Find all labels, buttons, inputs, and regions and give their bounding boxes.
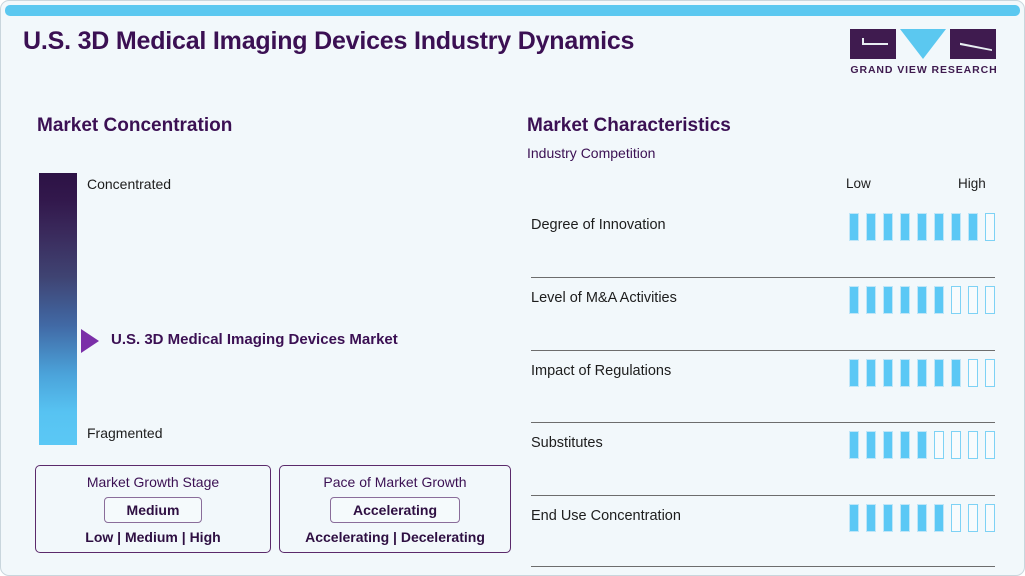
market-characteristics-title: Market Characteristics bbox=[527, 115, 731, 137]
growth-stage-scale: Low | Medium | High bbox=[85, 529, 220, 545]
market-position-label: U.S. 3D Medical Imaging Devices Market bbox=[111, 331, 398, 348]
pace-value: Accelerating bbox=[330, 497, 460, 523]
rating-tick-filled bbox=[900, 504, 910, 532]
rating-tick-empty bbox=[951, 286, 961, 314]
rating-tick-empty bbox=[985, 504, 995, 532]
rating-tick-filled bbox=[934, 213, 944, 241]
characteristic-label: Degree of Innovation bbox=[531, 217, 666, 233]
growth-stage-heading: Market Growth Stage bbox=[87, 474, 219, 490]
rating-tick-empty bbox=[951, 504, 961, 532]
characteristics-rows: Degree of InnovationLevel of M&A Activit… bbox=[531, 205, 995, 567]
rating-tick-empty bbox=[985, 213, 995, 241]
page-title: U.S. 3D Medical Imaging Devices Industry… bbox=[23, 27, 634, 56]
rating-tick-filled bbox=[951, 359, 961, 387]
rating-tick-filled bbox=[866, 286, 876, 314]
rating-tick-filled bbox=[900, 359, 910, 387]
characteristic-label: Impact of Regulations bbox=[531, 363, 671, 379]
scale-low-label: Low bbox=[846, 176, 871, 191]
logo-triangle-icon bbox=[900, 29, 946, 59]
characteristic-rating-bars bbox=[849, 213, 995, 241]
rating-tick-empty bbox=[968, 286, 978, 314]
rating-tick-filled bbox=[883, 431, 893, 459]
rating-tick-filled bbox=[968, 213, 978, 241]
rating-tick-filled bbox=[849, 431, 859, 459]
characteristic-label: End Use Concentration bbox=[531, 508, 681, 524]
rating-tick-filled bbox=[849, 213, 859, 241]
characteristic-rating-bars bbox=[849, 431, 995, 459]
rating-tick-filled bbox=[934, 504, 944, 532]
pace-scale: Accelerating | Decelerating bbox=[305, 529, 485, 545]
market-position-marker bbox=[81, 329, 99, 353]
rating-tick-empty bbox=[968, 504, 978, 532]
rating-tick-empty bbox=[985, 431, 995, 459]
rating-tick-filled bbox=[900, 431, 910, 459]
market-concentration-title: Market Concentration bbox=[37, 115, 232, 137]
rating-tick-empty bbox=[968, 431, 978, 459]
concentration-gradient-scale bbox=[39, 173, 77, 445]
rating-tick-filled bbox=[917, 359, 927, 387]
characteristic-rating-bars bbox=[849, 504, 995, 532]
characteristic-row: Degree of Innovation bbox=[531, 205, 995, 277]
rating-tick-filled bbox=[934, 359, 944, 387]
concentration-bottom-label: Fragmented bbox=[87, 425, 162, 441]
rating-tick-filled bbox=[883, 359, 893, 387]
scale-high-label: High bbox=[958, 176, 986, 191]
market-characteristics-subtitle: Industry Competition bbox=[527, 145, 655, 161]
characteristic-label: Substitutes bbox=[531, 435, 603, 451]
rating-tick-filled bbox=[866, 359, 876, 387]
pace-of-market-growth-card: Pace of Market Growth Accelerating Accel… bbox=[279, 465, 511, 553]
rating-tick-filled bbox=[883, 213, 893, 241]
characteristic-row: End Use Concentration bbox=[531, 495, 995, 567]
logo-wordmark: GRAND VIEW RESEARCH bbox=[850, 64, 998, 76]
pace-heading: Pace of Market Growth bbox=[323, 474, 466, 490]
characteristic-row: Level of M&A Activities bbox=[531, 277, 995, 349]
growth-stage-value: Medium bbox=[104, 497, 203, 523]
logo-marks bbox=[850, 29, 998, 59]
rating-tick-filled bbox=[917, 504, 927, 532]
brand-logo: GRAND VIEW RESEARCH bbox=[850, 29, 998, 76]
logo-right-block-icon bbox=[950, 29, 996, 59]
rating-tick-filled bbox=[900, 286, 910, 314]
logo-left-block-icon bbox=[850, 29, 896, 59]
characteristic-row: Impact of Regulations bbox=[531, 350, 995, 422]
rating-tick-empty bbox=[985, 359, 995, 387]
rating-tick-filled bbox=[849, 286, 859, 314]
rating-tick-filled bbox=[866, 431, 876, 459]
rating-tick-filled bbox=[866, 504, 876, 532]
rating-tick-filled bbox=[883, 504, 893, 532]
top-accent-bar bbox=[5, 5, 1020, 16]
characteristic-rating-bars bbox=[849, 359, 995, 387]
rating-tick-empty bbox=[968, 359, 978, 387]
characteristic-rating-bars bbox=[849, 286, 995, 314]
rating-tick-filled bbox=[917, 431, 927, 459]
market-growth-stage-card: Market Growth Stage Medium Low | Medium … bbox=[35, 465, 271, 553]
rating-tick-filled bbox=[917, 286, 927, 314]
rating-tick-filled bbox=[849, 359, 859, 387]
infographic-canvas: U.S. 3D Medical Imaging Devices Industry… bbox=[0, 0, 1025, 576]
rating-tick-filled bbox=[900, 213, 910, 241]
characteristic-label: Level of M&A Activities bbox=[531, 290, 677, 306]
rating-tick-filled bbox=[866, 213, 876, 241]
arrow-right-icon bbox=[81, 329, 99, 353]
rating-tick-filled bbox=[849, 504, 859, 532]
rating-tick-filled bbox=[951, 213, 961, 241]
characteristic-row: Substitutes bbox=[531, 422, 995, 494]
rating-tick-empty bbox=[934, 431, 944, 459]
concentration-top-label: Concentrated bbox=[87, 176, 171, 192]
rating-tick-filled bbox=[917, 213, 927, 241]
rating-tick-filled bbox=[883, 286, 893, 314]
rating-tick-empty bbox=[951, 431, 961, 459]
rating-tick-filled bbox=[934, 286, 944, 314]
rating-tick-empty bbox=[985, 286, 995, 314]
